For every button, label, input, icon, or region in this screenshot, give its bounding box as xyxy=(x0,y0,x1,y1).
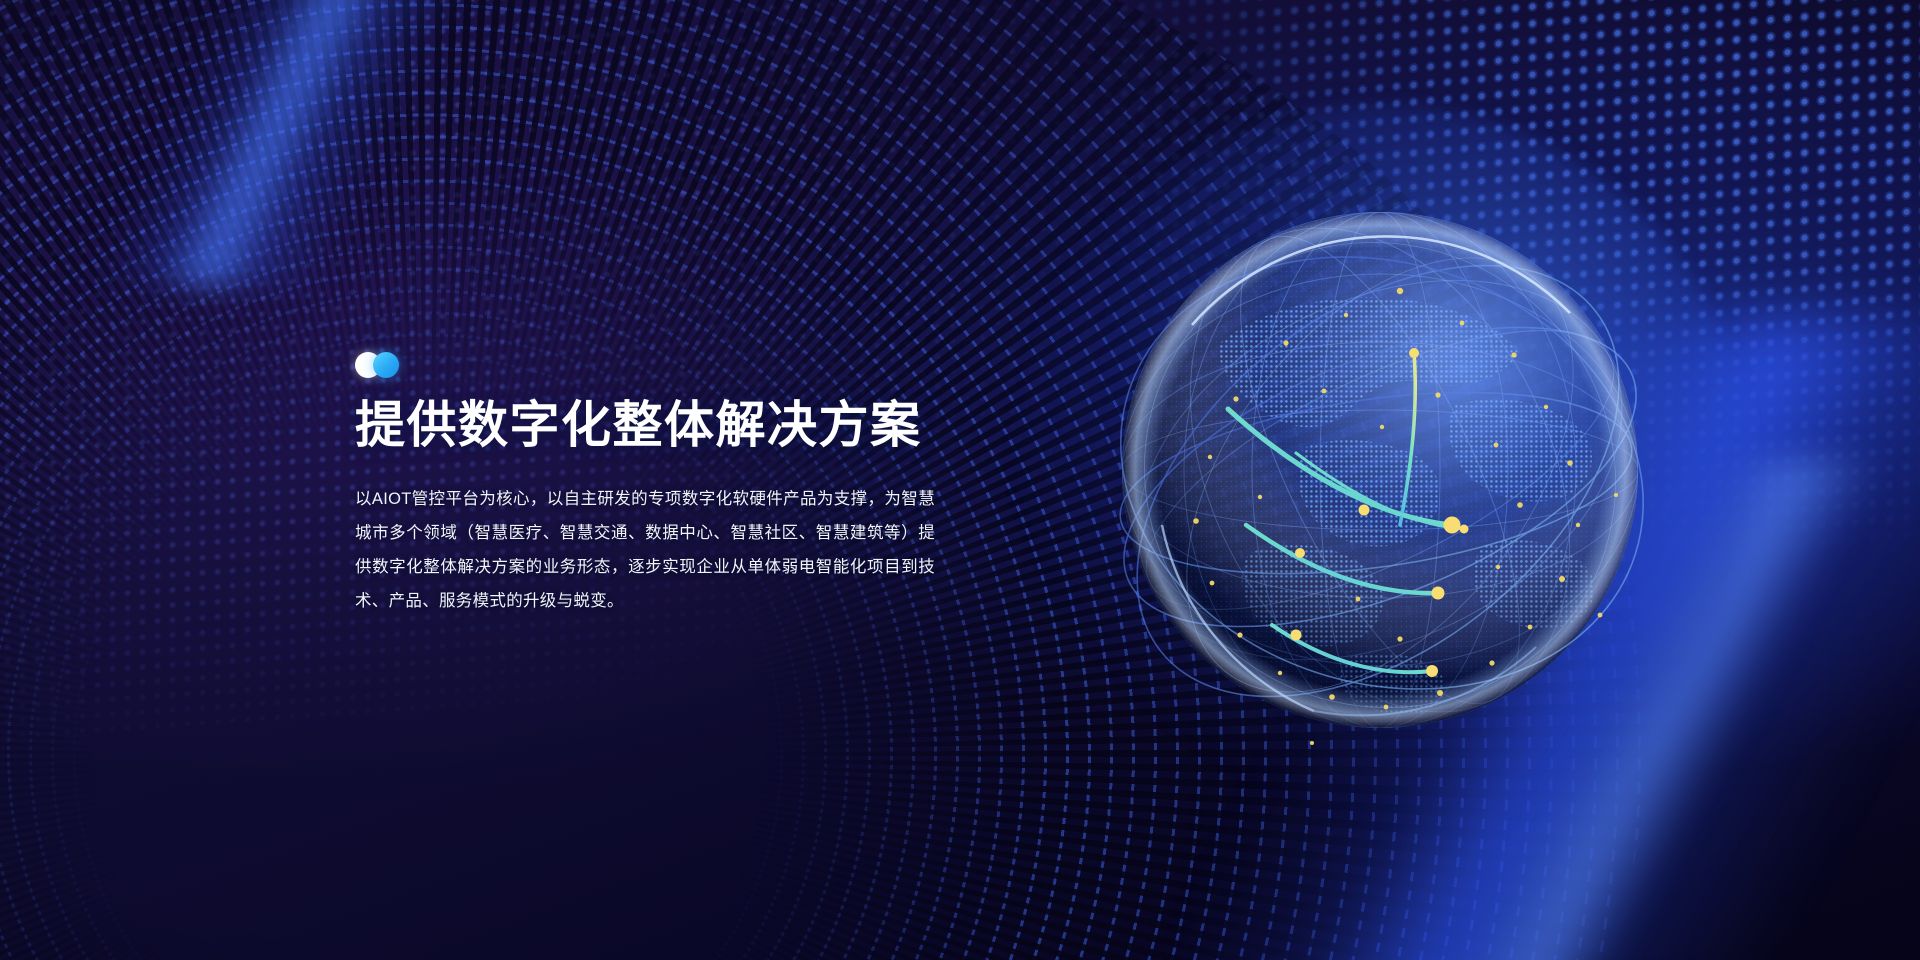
hero-content: 提供数字化整体解决方案 以AIOT管控平台为核心，以自主研发的专项数字化软硬件产… xyxy=(355,352,955,619)
hero-banner: 提供数字化整体解决方案 以AIOT管控平台为核心，以自主研发的专项数字化软硬件产… xyxy=(0,0,1920,960)
page-title: 提供数字化整体解决方案 xyxy=(355,398,955,452)
two-dots-badge xyxy=(355,352,413,378)
light-streak-top-left xyxy=(0,0,829,307)
digital-globe-illustration xyxy=(1100,195,1660,755)
hero-description: 以AIOT管控平台为核心，以自主研发的专项数字化软硬件产品为支撑，为智慧城市多个… xyxy=(355,482,935,619)
badge-dot-blue-icon xyxy=(373,352,399,378)
globe-svg xyxy=(1100,195,1660,755)
